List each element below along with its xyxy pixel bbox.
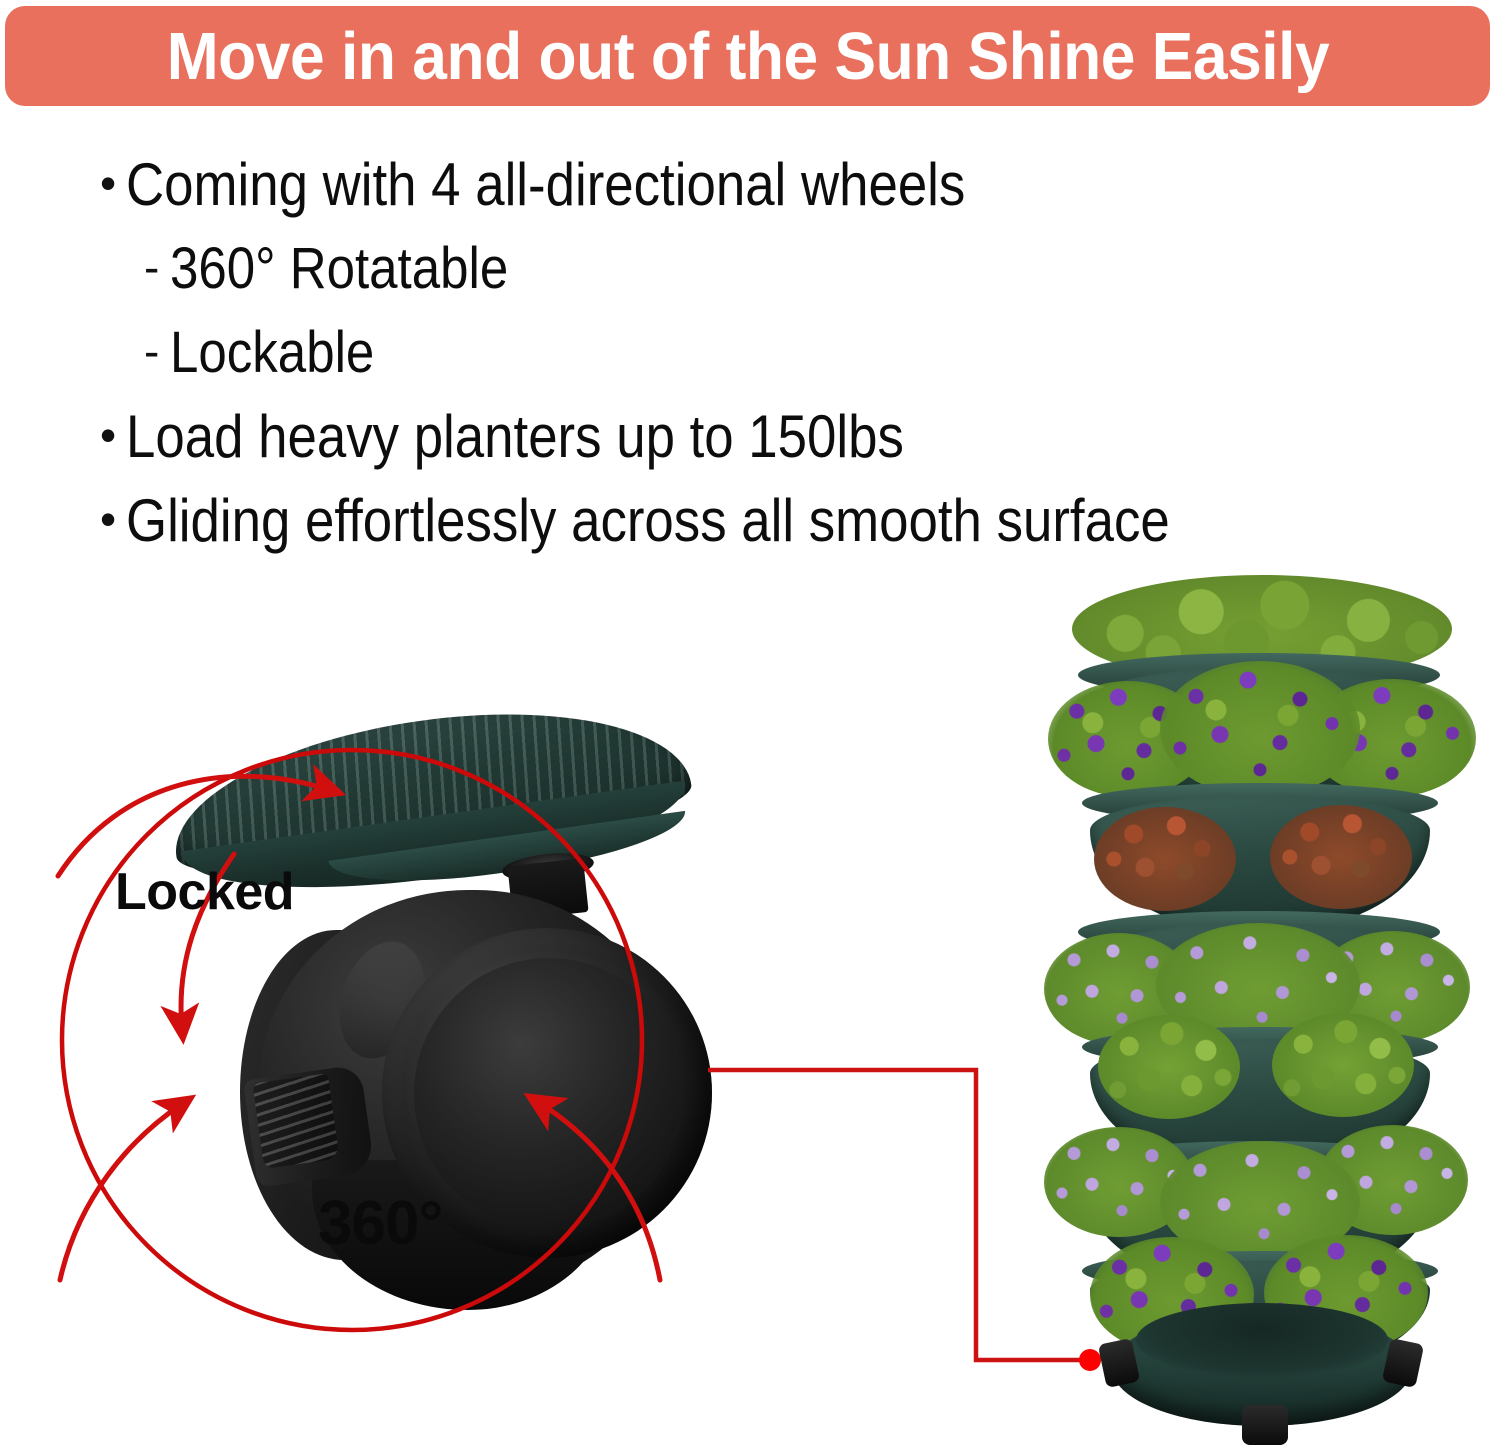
feature-list: • Coming with 4 all-directional wheels -… (100, 152, 1490, 572)
stackable-planter-tower (1020, 575, 1490, 1450)
dash-marker: - (144, 320, 170, 382)
tier-2-plant-left (1094, 807, 1236, 911)
feature-text: Coming with 4 all-directional wheels (126, 152, 965, 218)
rotation-label: 360° (318, 1188, 442, 1259)
base-caster-front (1242, 1405, 1288, 1445)
base-caddy-inner (1136, 1303, 1388, 1377)
bullet-marker: • (100, 488, 126, 550)
tier-4-plant-right (1272, 1013, 1414, 1117)
dash-marker: - (144, 236, 170, 298)
base-caster-right (1382, 1338, 1424, 1388)
header-banner-title: Move in and out of the Sun Shine Easily (166, 23, 1328, 90)
tier-2-plant-right (1270, 805, 1412, 909)
product-feature-graphic: Move in and out of the Sun Shine Easily … (0, 0, 1500, 1450)
feature-item-wheels: • Coming with 4 all-directional wheels (100, 152, 1490, 236)
feature-text: Gliding effortlessly across all smooth s… (126, 488, 1170, 554)
locked-label: Locked (115, 862, 294, 922)
bullet-marker: • (100, 404, 126, 466)
header-banner: Move in and out of the Sun Shine Easily (5, 6, 1490, 106)
tier-4-plant-left (1098, 1015, 1240, 1119)
feature-item-lockable: - Lockable (100, 320, 1490, 404)
feature-item-load: • Load heavy planters up to 150lbs (100, 404, 1490, 488)
feature-text: Load heavy planters up to 150lbs (126, 404, 904, 470)
feature-text: 360° Rotatable (170, 236, 508, 302)
tier-1-plant-center (1160, 661, 1360, 797)
bullet-marker: • (100, 152, 126, 214)
feature-item-gliding: • Gliding effortlessly across all smooth… (100, 488, 1490, 572)
feature-text: Lockable (170, 320, 374, 386)
feature-item-rotatable: - 360° Rotatable (100, 236, 1490, 320)
